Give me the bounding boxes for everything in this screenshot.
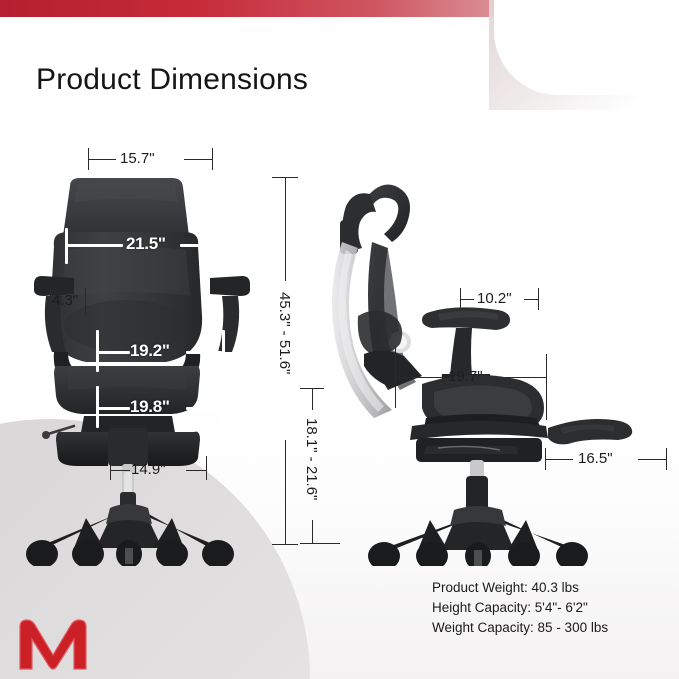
spec-product-weight: Product Weight: 40.3 lbs: [432, 578, 608, 598]
chair-side-view: [330, 176, 640, 566]
dim-label-seat-width: 19.8": [130, 397, 170, 417]
dim-label-backrest-width: 21.5": [126, 234, 166, 254]
dim-label-seat-depth: 19.7": [448, 368, 483, 385]
dim-label-seat-back-width: 19.2": [130, 341, 170, 361]
dim-label-armrest-depth: 10.2": [477, 290, 512, 307]
brand-logo: [14, 615, 92, 673]
dim-label-overall-height: 45.3" - 51.6": [276, 292, 293, 374]
spec-weight-capacity: Weight Capacity: 85 - 300 lbs: [432, 618, 608, 638]
spec-list: Product Weight: 40.3 lbs Height Capacity…: [432, 578, 608, 638]
dim-label-footrest-depth: 16.5": [578, 450, 613, 467]
dim-label-headrest-width: 15.7": [120, 150, 155, 167]
dim-label-armrest-gap: 4.3": [52, 292, 78, 309]
top-right-notch: [494, 0, 679, 95]
page-title: Product Dimensions: [36, 62, 308, 98]
product-dimensions-infographic: Product Dimensions: [0, 0, 679, 679]
dim-label-seat-height: 18.1" - 21.6": [303, 418, 320, 500]
spec-height-capacity: Height Capacity: 5'4"- 6'2": [432, 598, 608, 618]
dim-label-base-width: 14.9": [131, 461, 166, 478]
